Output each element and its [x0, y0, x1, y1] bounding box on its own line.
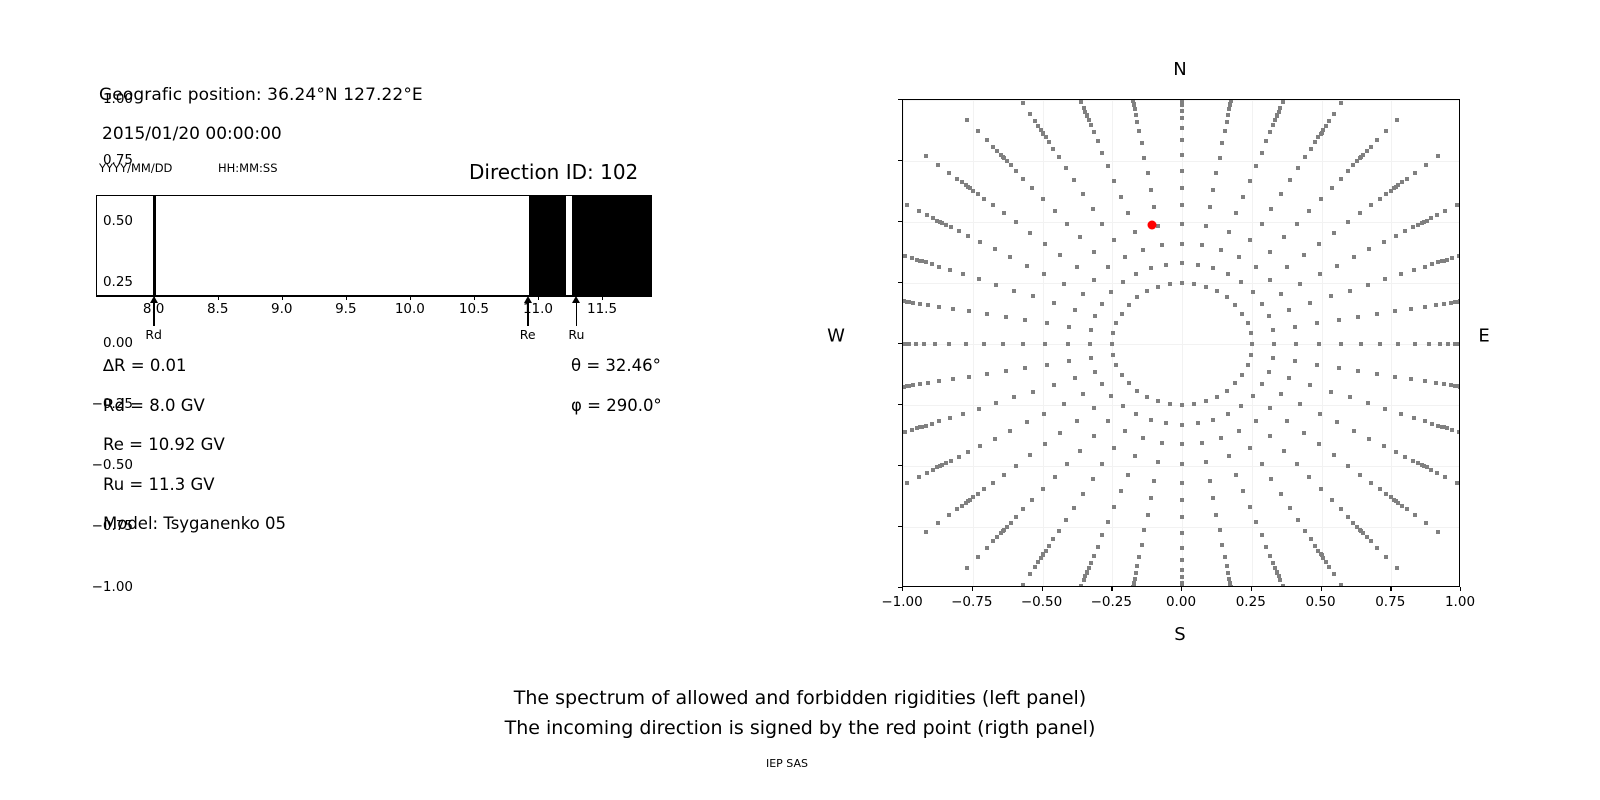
scatter-point [994, 283, 998, 287]
scatter-point [1225, 295, 1229, 299]
scatter-point [1028, 572, 1032, 576]
polar-xtick-mark [1460, 587, 1461, 591]
scatter-point [1220, 543, 1224, 547]
scatter-point [1066, 342, 1070, 346]
axis-rule [96, 296, 652, 297]
scatter-point [1053, 209, 1057, 213]
axis-tick-label: 10.0 [395, 301, 425, 317]
scatter-point [1021, 101, 1025, 105]
scatter-point [1260, 462, 1264, 466]
scatter-point [1260, 222, 1264, 226]
scatter-point [1423, 265, 1427, 269]
scatter-point [1180, 103, 1184, 107]
scatter-point [902, 299, 906, 303]
scatter-point [931, 216, 935, 220]
scatter-point [1214, 513, 1218, 517]
scatter-point [1455, 203, 1459, 207]
scatter-point [1134, 272, 1138, 276]
scatter-point [1112, 179, 1116, 183]
grid-line-vertical [1322, 100, 1323, 586]
scatter-point [1446, 342, 1450, 346]
scatter-point [1111, 331, 1115, 335]
scatter-point [1081, 192, 1085, 196]
scatter-point [1287, 376, 1291, 380]
scatter-point [1442, 302, 1446, 306]
scatter-point [1233, 381, 1237, 385]
scatter-point [1237, 429, 1241, 433]
scatter-point [1218, 156, 1222, 160]
scatter-point [1072, 506, 1076, 510]
scatter-point [1413, 342, 1417, 346]
scatter-point [1146, 513, 1150, 517]
scatter-point [1196, 421, 1200, 425]
scatter-point [1200, 243, 1204, 247]
scatter-point [1088, 342, 1092, 346]
scatter-point [1277, 110, 1281, 114]
polar-xtick-label: −1.00 [881, 594, 922, 610]
scatter-point [1149, 188, 1153, 192]
scatter-point [1324, 124, 1328, 128]
scatter-point [1332, 231, 1336, 235]
scatter-point [1135, 120, 1139, 124]
scatter-point [1096, 545, 1100, 549]
scatter-point [960, 180, 964, 184]
scatter-point [1313, 544, 1317, 548]
scatter-point [1131, 585, 1135, 587]
scatter-point [976, 555, 980, 559]
scatter-point [1369, 145, 1373, 149]
scatter-point [1164, 263, 1168, 267]
scatter-point [1315, 321, 1319, 325]
scatter-point [1023, 366, 1027, 370]
scatter-point [930, 422, 934, 426]
grid-line-vertical [973, 100, 974, 586]
scatter-point [903, 430, 907, 434]
scatter-point [1394, 450, 1398, 454]
scatter-point [944, 223, 948, 227]
scatter-point [1223, 129, 1227, 133]
scatter-point [1248, 505, 1252, 509]
scatter-point [1064, 166, 1068, 170]
scatter-point [1272, 342, 1276, 346]
scatter-point [1329, 390, 1333, 394]
scatter-point [1429, 216, 1433, 220]
scatter-point [1043, 242, 1047, 246]
scatter-point [1237, 255, 1241, 259]
scatter-point [995, 535, 999, 539]
scatter-point [1100, 302, 1104, 306]
scatter-point [1180, 558, 1184, 562]
scatter-point [936, 521, 940, 525]
scatter-point [1445, 426, 1449, 430]
scatter-point [1083, 110, 1087, 114]
axis-tick-mark [218, 296, 219, 300]
scatter-point [1271, 356, 1275, 360]
scatter-point [1375, 138, 1379, 142]
scatter-point [1327, 565, 1331, 569]
scatter-point [1025, 420, 1029, 424]
scatter-point [1112, 505, 1116, 509]
scatter-point [982, 342, 986, 346]
scatter-point [1309, 147, 1313, 151]
rigidity-axis: 8.08.59.09.510.010.511.011.5RdReRu [96, 296, 652, 310]
polar-ytick-mark [898, 343, 902, 344]
scatter-point [1009, 163, 1013, 167]
scatter-point [936, 163, 940, 167]
scatter-point [1369, 539, 1373, 543]
scatter-point [1092, 278, 1096, 282]
scatter-point [924, 424, 928, 428]
scatter-point [1435, 213, 1439, 217]
scatter-point [1062, 402, 1066, 406]
scatter-point [1315, 363, 1319, 367]
scatter-point [1302, 431, 1306, 435]
footer-credit: IEP SAS [766, 757, 808, 770]
scatter-point [947, 342, 951, 346]
polar-xtick-label: −0.25 [1091, 594, 1132, 610]
scatter-point [1100, 222, 1104, 226]
scatter-point [1234, 473, 1238, 477]
scatter-point [1196, 263, 1200, 267]
scatter-point [1211, 418, 1215, 422]
scatter-point [1229, 585, 1233, 587]
scatter-point [1384, 555, 1388, 559]
scatter-point [1271, 328, 1275, 332]
scatter-point [1319, 487, 1323, 491]
scatter-point [1109, 290, 1113, 294]
marker-shaft [576, 301, 578, 326]
scatter-point [1339, 342, 1343, 346]
axis-tick-label: 9.0 [271, 301, 292, 317]
scatter-point [1458, 299, 1460, 303]
scatter-point [1023, 318, 1027, 322]
scatter-point [1411, 459, 1415, 463]
polar-ytick-label: −0.50 [92, 457, 133, 473]
scatter-point [1073, 376, 1077, 380]
scatter-point [937, 419, 941, 423]
compass-label-north: N [1173, 59, 1186, 80]
scatter-point [1149, 496, 1153, 500]
scatter-point [911, 301, 915, 305]
scatter-point [1219, 248, 1223, 252]
scatter-point [1134, 412, 1138, 416]
scatter-point [1120, 312, 1124, 316]
scatter-point [1413, 171, 1417, 175]
scatter-point [948, 268, 952, 272]
scatter-point [947, 513, 951, 517]
scatter-point [949, 459, 953, 463]
scatter-point [1271, 561, 1275, 565]
rigidity-spectrum-bar [96, 195, 652, 296]
scatter-point [1211, 266, 1215, 270]
grid-line-horizontal [903, 527, 1459, 528]
scatter-point [1296, 166, 1300, 170]
scatter-point [1307, 475, 1311, 479]
scatter-point [1337, 366, 1341, 370]
scatter-point [1268, 130, 1272, 134]
scatter-point [1339, 507, 1343, 511]
scatter-point [1254, 419, 1258, 423]
forbidden-band [572, 196, 652, 295]
scatter-point [1180, 462, 1184, 466]
scatter-point [1043, 342, 1047, 346]
scatter-point [1146, 171, 1150, 175]
scatter-point [1394, 234, 1398, 238]
scatter-point [1384, 492, 1388, 496]
scatter-point [1365, 535, 1369, 539]
scatter-point [1041, 487, 1045, 491]
scatter-point [1384, 129, 1388, 133]
direction-id-text: Direction ID: 102 [469, 160, 638, 184]
scatter-point [993, 437, 997, 441]
scatter-point [1036, 124, 1040, 128]
scatter-point [1096, 139, 1100, 143]
scatter-point [925, 471, 929, 475]
scatter-point [1318, 272, 1322, 276]
scatter-point [948, 416, 952, 420]
scatter-point [1227, 230, 1231, 234]
scatter-point [1356, 315, 1360, 319]
axis-tick-mark [538, 296, 539, 300]
scatter-point [1264, 545, 1268, 549]
scatter-point [1430, 422, 1434, 426]
scatter-point [926, 381, 930, 385]
scatter-point [1126, 473, 1130, 477]
scatter-point [1145, 395, 1149, 399]
scatter-point [1156, 224, 1160, 228]
scatter-point [1279, 192, 1283, 196]
scatter-point [1254, 265, 1258, 269]
scatter-point [1180, 261, 1184, 265]
scatter-point [1382, 444, 1386, 448]
scatter-point [1141, 248, 1145, 252]
scatter-point [918, 382, 922, 386]
scatter-point [1204, 224, 1208, 228]
grid-line-horizontal [903, 466, 1459, 467]
scatter-point [1264, 139, 1268, 143]
scatter-point [965, 566, 969, 570]
scatter-point [978, 240, 982, 244]
scatter-point [1423, 419, 1427, 423]
scatter-point [1079, 100, 1083, 104]
scatter-point [1208, 479, 1212, 483]
scatter-point [1378, 487, 1382, 491]
scatter-point [1112, 238, 1116, 242]
scatter-point [1219, 436, 1223, 440]
scatter-point [902, 342, 905, 346]
scatter-point [1375, 312, 1379, 316]
scatter-point [1332, 572, 1336, 576]
scatter-point [1427, 342, 1431, 346]
scatter-point [1081, 292, 1085, 296]
polar-ytick-label: 0.25 [103, 274, 133, 290]
scatter-point [1423, 305, 1427, 309]
polar-xtick-label: 0.00 [1166, 594, 1196, 610]
scatter-point [964, 183, 968, 187]
scatter-point [1225, 564, 1229, 568]
scatter-point [955, 177, 959, 181]
scatter-point [1405, 507, 1409, 511]
scatter-point [930, 262, 934, 266]
scatter-point [1367, 247, 1371, 251]
scatter-point [957, 229, 961, 233]
scatter-point [1434, 381, 1438, 385]
scatter-point [937, 305, 941, 309]
scatter-point [1047, 140, 1051, 144]
scatter-point [1248, 238, 1252, 242]
scatter-point [1180, 99, 1184, 102]
scatter-point [1220, 141, 1224, 145]
scatter-point [915, 426, 919, 430]
scatter-point [1052, 301, 1056, 305]
scatter-point [1089, 356, 1093, 360]
polar-ytick-label: −0.25 [92, 396, 133, 412]
scatter-point [1339, 101, 1343, 105]
marker-shaft [527, 301, 529, 326]
polar-ytick-mark [898, 404, 902, 405]
polar-ytick-label: 1.00 [103, 91, 133, 107]
scatter-point [1160, 441, 1164, 445]
scatter-point [1294, 342, 1298, 346]
polar-xtick-mark [1251, 587, 1252, 591]
polar-ytick-mark [898, 282, 902, 283]
scatter-point [917, 209, 921, 213]
polar-ytick-mark [898, 465, 902, 466]
scatter-point [1014, 220, 1018, 224]
scatter-point [1028, 112, 1032, 116]
scatter-point [1268, 554, 1272, 558]
scatter-point [1133, 230, 1137, 234]
scatter-point [1375, 546, 1379, 550]
scatter-point [1278, 106, 1282, 110]
scatter-point [1424, 163, 1428, 167]
scatter-point [1351, 163, 1355, 167]
scatter-point [1271, 123, 1275, 127]
scatter-point [1281, 100, 1285, 104]
scatter-point [1030, 498, 1034, 502]
scatter-point [1041, 197, 1045, 201]
scatter-point [1268, 278, 1272, 282]
scatter-point [985, 372, 989, 376]
scatter-point [1091, 477, 1095, 481]
scatter-point [1339, 583, 1343, 587]
scatter-point [1204, 285, 1208, 289]
scatter-point [1295, 222, 1299, 226]
polar-xtick-mark [1042, 587, 1043, 591]
scatter-point [1141, 436, 1145, 440]
scatter-point [1260, 151, 1264, 155]
polar-xtick-mark [902, 587, 903, 591]
scatter-point [1317, 242, 1321, 246]
scatter-point [1160, 243, 1164, 247]
scatter-point [910, 428, 914, 432]
scatter-point [1403, 455, 1407, 459]
scatter-point [1239, 280, 1243, 284]
grid-line-vertical [1391, 100, 1392, 586]
scatter-point [1073, 308, 1077, 312]
scatter-point [1313, 140, 1317, 144]
scatter-point [1229, 99, 1233, 103]
scatter-point [1168, 402, 1172, 406]
scatter-point [1142, 156, 1146, 160]
scatter-point [1307, 209, 1311, 213]
scatter-point [905, 203, 909, 207]
scatter-point [1395, 118, 1399, 122]
scatter-point [1081, 492, 1085, 496]
scatter-point [1142, 528, 1146, 532]
scatter-point [1180, 222, 1184, 226]
scatter-point [1335, 420, 1339, 424]
polar-xtick-label: 0.75 [1375, 594, 1405, 610]
scatter-point [1078, 449, 1082, 453]
scatter-point [1281, 584, 1285, 587]
scatter-point [991, 539, 995, 543]
scatter-point [1269, 477, 1273, 481]
scatter-point [1369, 203, 1373, 207]
scatter-point [1042, 412, 1046, 416]
scatter-point [924, 530, 928, 534]
scatter-point [1356, 369, 1360, 373]
scatter-point [1057, 155, 1061, 159]
scatter-point [1033, 119, 1037, 123]
scatter-point [1273, 118, 1277, 122]
grid-line-vertical [1182, 100, 1183, 586]
scatter-point [1267, 370, 1271, 374]
scatter-point [1078, 235, 1082, 239]
scatter-point [1002, 473, 1006, 477]
scatter-point [1409, 377, 1413, 381]
scatter-point [1225, 120, 1229, 124]
scatter-point [1057, 529, 1061, 533]
scatter-point [1079, 584, 1083, 587]
scatter-point [1123, 429, 1127, 433]
scatter-point [1287, 308, 1291, 312]
scatter-point [1455, 481, 1459, 485]
scatter-point [1378, 342, 1382, 346]
compass-label-east: E [1478, 326, 1489, 347]
scatter-point [1260, 302, 1264, 306]
scatter-point [1285, 265, 1289, 269]
scatter-point [911, 383, 915, 387]
compass-label-south: S [1174, 624, 1185, 645]
scatter-point [1251, 394, 1255, 398]
scatter-point [1030, 186, 1034, 190]
scatter-point [1009, 521, 1013, 525]
scatter-point [1409, 307, 1413, 311]
scatter-point [1234, 211, 1238, 215]
scatter-point [1135, 389, 1139, 393]
scatter-point [964, 501, 968, 505]
scatter-point [1303, 529, 1307, 533]
polar-plot-frame [902, 99, 1460, 587]
scatter-point [994, 401, 998, 405]
scatter-point [976, 492, 980, 496]
scatter-point [960, 504, 964, 508]
scatter-point [1327, 119, 1331, 123]
scatter-point [1039, 128, 1043, 132]
scatter-point [966, 450, 970, 454]
scatter-point [1014, 169, 1018, 173]
scatter-point [1365, 149, 1369, 153]
parameter-re: Re = 10.92 GV [103, 435, 225, 454]
scatter-point [902, 385, 906, 389]
scatter-point [1240, 312, 1244, 316]
scatter-point [1412, 268, 1416, 272]
parameter-ru: Ru = 11.3 GV [103, 475, 215, 494]
scatter-point [1248, 179, 1252, 183]
scatter-point [1321, 128, 1325, 132]
scatter-point [1369, 481, 1373, 485]
